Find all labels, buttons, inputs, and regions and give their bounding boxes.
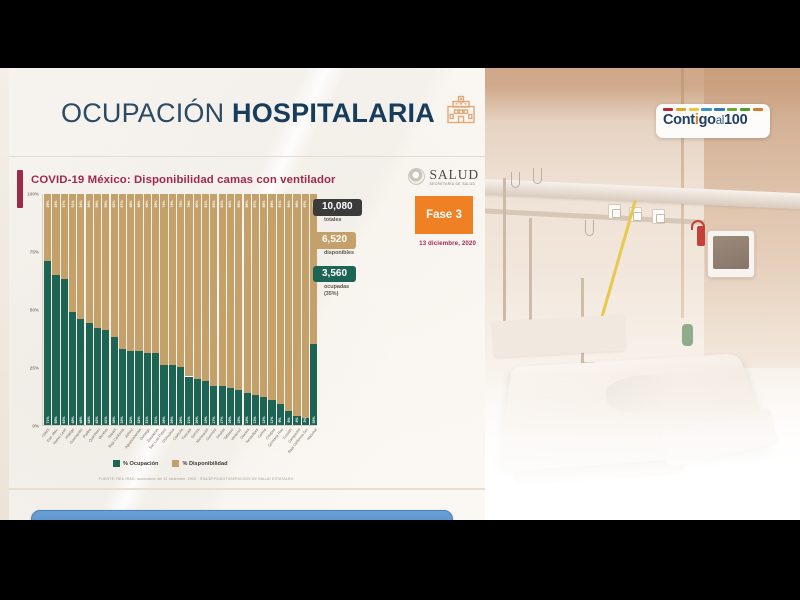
bar-segment-ocupacion: 19%: [202, 381, 209, 425]
bar-value-label: 59%: [104, 200, 108, 207]
bar-segment-disponibilidad: 79%: [185, 194, 192, 376]
iv-hook-icon: [511, 172, 520, 188]
bar-segment-ocupacion: 32%: [127, 351, 134, 425]
logo-dash: [701, 108, 711, 111]
bar-segment-ocupacion: 71%: [44, 261, 51, 425]
bar-value-label: 19%: [204, 416, 208, 423]
bar-column: 67%33%: [119, 194, 126, 425]
bar-value-label: 54%: [79, 200, 83, 207]
bar-column: 83%17%: [219, 194, 226, 425]
bar-segment-ocupacion: 42%: [94, 328, 101, 425]
bar-segment-disponibilidad: 54%: [77, 194, 84, 319]
page-title: OCUPACIÓN HOSPITALARIA: [61, 98, 435, 129]
bar-column: 59%41%: [102, 194, 109, 425]
bar-value-label: 14%: [245, 416, 249, 423]
y-tick-label: 0%: [32, 424, 39, 429]
bar-segment-ocupacion: 35%: [310, 344, 317, 425]
y-axis: 100%75%50%25%0%: [17, 194, 41, 426]
wall-outlet-icon: [652, 209, 665, 224]
chart-title: COVID-19 México: Disponibilidad camas co…: [31, 174, 336, 186]
status-banner: AGS. 65% DE OCUPACION CAMAS CON VENTILAD…: [31, 510, 453, 520]
legend-label: % Ocupación: [123, 461, 158, 467]
logo-word-go: go: [699, 112, 716, 128]
bar-value-label: 42%: [95, 416, 99, 423]
bar-value-label: 38%: [112, 416, 116, 423]
bar-segment-ocupacion: 31%: [144, 353, 151, 425]
bar-segment-disponibilidad: 94%: [285, 194, 292, 411]
bar-segment-disponibilidad: 97%: [302, 194, 309, 418]
bar-column: 86%14%: [244, 194, 251, 425]
bar-column: 89%11%: [268, 194, 275, 425]
bar-value-label: 29%: [46, 200, 50, 207]
bar-value-label: 85%: [237, 200, 241, 207]
banner-zone: AGS. 65% DE OCUPACION CAMAS CON VENTILAD…: [0, 500, 485, 520]
legend-item: % Ocupación: [113, 460, 158, 467]
bar-value-label: 97%: [303, 200, 307, 207]
status-badge: Fase 3: [415, 196, 473, 234]
bar-segment-disponibilidad: 69%: [144, 194, 151, 353]
bar-column: 69%31%: [144, 194, 151, 425]
bar-value-label: 21%: [187, 416, 191, 423]
bar-value-label: 74%: [170, 200, 174, 207]
bar-segment-ocupacion: 49%: [69, 312, 76, 425]
logo-dash: [676, 108, 686, 111]
bar-value-label: 75%: [179, 200, 183, 207]
bar-value-label: 12%: [262, 416, 266, 423]
slide-bottom-rule: [9, 488, 485, 490]
kpi-caption: ocupadas (35%): [313, 284, 405, 299]
bar-segment-ocupacion: 3%: [302, 418, 309, 425]
bar-segment-ocupacion: 17%: [210, 386, 217, 425]
bar-segment-disponibilidad: 67%: [119, 194, 126, 349]
bar-segment-ocupacion: 20%: [194, 379, 201, 425]
kpi-value: 3,560: [313, 266, 356, 283]
salud-subtitle: SECRETARÍA DE SALUD: [429, 183, 479, 186]
hospital-building-icon: [444, 92, 478, 131]
slide-left-strip: [0, 68, 9, 520]
bar-value-label: 9%: [278, 417, 282, 422]
bar-segment-ocupacion: 17%: [219, 386, 226, 425]
y-tick-label: 50%: [30, 308, 39, 313]
bar-value-label: 65%: [54, 416, 58, 423]
bar-value-label: 46%: [79, 416, 83, 423]
chart-card: COVID-19 México: Disponibilidad camas co…: [9, 160, 485, 490]
kpi-caption: disponibles: [313, 250, 405, 257]
bar-segment-ocupacion: 16%: [227, 388, 234, 425]
bar-segment-disponibilidad: 83%: [219, 194, 226, 386]
bar-value-label: 3%: [303, 417, 307, 422]
bar-value-label: 6%: [287, 417, 291, 422]
bar-column: 97%3%: [302, 194, 309, 425]
contigo-al-100-logo: Contigoal100: [656, 104, 770, 138]
bar-column: 29%71%: [44, 194, 51, 425]
bar-segment-disponibilidad: 74%: [169, 194, 176, 365]
bar-value-label: 35%: [312, 416, 316, 423]
legend-label: % Disponibilidad: [182, 461, 227, 467]
letterbox-bottom: [0, 520, 800, 600]
bar-value-label: 41%: [104, 416, 108, 423]
kpi-totales: 10,080totales: [313, 196, 405, 224]
bar-segment-disponibilidad: 84%: [227, 194, 234, 388]
bar-value-label: 71%: [46, 416, 50, 423]
bar-segment-disponibilidad: 81%: [202, 194, 209, 381]
plot-area: 29%71%35%65%37%63%51%49%54%46%56%44%58%4…: [42, 194, 317, 426]
bar-column: 58%42%: [94, 194, 101, 425]
bar-column: 74%26%: [160, 194, 167, 425]
bar-value-label: 62%: [112, 200, 116, 207]
bar-segment-disponibilidad: 80%: [194, 194, 201, 379]
chart-legend: % Ocupación% Disponibilidad: [113, 460, 228, 467]
bar-segment-ocupacion: 63%: [61, 279, 68, 425]
bar-segment-ocupacion: 32%: [135, 351, 142, 425]
iv-hook-icon: [585, 220, 594, 236]
kpi-disponibles: 6,520disponibles: [313, 229, 405, 257]
bar-value-label: 35%: [54, 200, 58, 207]
bar-column: 68%32%: [127, 194, 134, 425]
red-valve-icon: [697, 226, 705, 246]
iv-pole: [529, 218, 532, 328]
bar-segment-disponibilidad: 69%: [152, 194, 159, 353]
bar-value-label: 68%: [129, 200, 133, 207]
bar-value-label: 87%: [253, 200, 257, 207]
bar-segment-ocupacion: 38%: [111, 337, 118, 425]
bar-segment-ocupacion: 11%: [268, 400, 275, 425]
bar-segment-disponibilidad: 58%: [94, 194, 101, 328]
bar-value-label: 74%: [162, 200, 166, 207]
bar-column: 85%15%: [235, 194, 242, 425]
logo-dash: [727, 108, 737, 111]
green-bag-icon: [682, 324, 693, 346]
bar-segment-disponibilidad: 68%: [135, 194, 142, 351]
bar-segment-ocupacion: 25%: [177, 367, 184, 425]
logo-wordmark: Contigoal100: [663, 113, 763, 128]
bar-segment-ocupacion: 65%: [52, 275, 59, 425]
monitor-screen: [713, 236, 749, 269]
bar-value-label: 68%: [137, 200, 141, 207]
bar-segment-disponibilidad: 96%: [293, 194, 300, 416]
x-axis-labels: CDMXEdo. Méx.Nuevo LeónHidalgoGuanajuato…: [43, 427, 317, 455]
logo-dash: [740, 108, 750, 111]
kpi-ocupadas: 3,560ocupadas (35%): [313, 263, 405, 299]
kpi-list: 10,080totales6,520disponibles3,560ocupad…: [313, 196, 405, 303]
title-light: OCUPACIÓN: [61, 98, 224, 128]
bar-value-label: 26%: [162, 416, 166, 423]
bar-segment-disponibilidad: 89%: [268, 194, 275, 400]
bar-value-label: 84%: [228, 200, 232, 207]
y-tick-label: 100%: [27, 192, 39, 197]
bar-value-label: 86%: [245, 200, 249, 207]
bar-column: 84%16%: [227, 194, 234, 425]
title-bold: HOSPITALARIA: [232, 98, 435, 128]
bar-value-label: 69%: [154, 200, 158, 207]
broadcast-screen: OCUPACIÓN HOSPITALARIA: [0, 0, 800, 600]
legend-swatch: [113, 460, 120, 467]
logo-word-100: 100: [724, 112, 747, 128]
bar-value-label: 58%: [95, 200, 99, 207]
bar-column: 56%44%: [86, 194, 93, 425]
kpi-value: 10,080: [313, 199, 362, 216]
bar-series-container: 29%71%35%65%37%63%51%49%54%46%56%44%58%4…: [44, 194, 317, 425]
bar-column: 83%17%: [210, 194, 217, 425]
iv-hook-icon: [533, 168, 542, 184]
bar-segment-disponibilidad: 62%: [111, 194, 118, 337]
bar-segment-ocupacion: 33%: [119, 349, 126, 425]
bar-value-label: 51%: [71, 200, 75, 207]
bar-column: 68%32%: [135, 194, 142, 425]
salud-logo: SALUD SECRETARÍA DE SALUD: [408, 168, 479, 186]
bar-value-label: 37%: [62, 200, 66, 207]
bar-value-label: 88%: [262, 200, 266, 207]
bar-segment-ocupacion: 12%: [260, 397, 267, 425]
logo-dash: [753, 108, 763, 111]
bar-value-label: 49%: [71, 416, 75, 423]
bar-column: 87%13%: [252, 194, 259, 425]
bar-column: 79%21%: [185, 194, 192, 425]
bar-value-label: 31%: [145, 416, 149, 423]
bar-segment-ocupacion: 4%: [293, 416, 300, 425]
bar-segment-disponibilidad: 88%: [260, 194, 267, 397]
bar-column: 35%65%: [52, 194, 59, 425]
bar-value-label: 44%: [87, 416, 91, 423]
bar-value-label: 81%: [204, 200, 208, 207]
bar-column: 69%31%: [152, 194, 159, 425]
bar-column: 81%19%: [202, 194, 209, 425]
legend-item: % Disponibilidad: [172, 460, 227, 467]
bar-column: 80%20%: [194, 194, 201, 425]
bar-value-label: 80%: [195, 200, 199, 207]
bar-segment-ocupacion: 14%: [244, 393, 251, 425]
bar-value-label: 32%: [129, 416, 133, 423]
bar-segment-ocupacion: 13%: [252, 395, 259, 425]
bar-segment-ocupacion: 6%: [285, 411, 292, 425]
bar-column: 62%38%: [111, 194, 118, 425]
bar-value-label: 31%: [154, 416, 158, 423]
bar-segment-disponibilidad: 75%: [177, 194, 184, 367]
bar-column: 96%4%: [293, 194, 300, 425]
bar-value-label: 26%: [170, 416, 174, 423]
salud-name: SALUD: [429, 168, 479, 182]
bar-segment-disponibilidad: 51%: [69, 194, 76, 312]
bar-segment-ocupacion: 21%: [185, 377, 192, 426]
bar-value-label: 67%: [120, 200, 124, 207]
mexico-eagle-seal-icon: [408, 168, 425, 185]
bar-segment-ocupacion: 26%: [160, 365, 167, 425]
slide-date: 13 diciembre, 2020: [419, 240, 476, 247]
bar-segment-disponibilidad: 56%: [86, 194, 93, 323]
bar-value-label: 94%: [287, 200, 291, 207]
bar-segment-disponibilidad: 85%: [235, 194, 242, 390]
bar-segment-disponibilidad: 37%: [61, 194, 68, 279]
bar-value-label: 32%: [137, 416, 141, 423]
slide-header: OCUPACIÓN HOSPITALARIA: [9, 82, 485, 144]
bar-value-label: 25%: [179, 416, 183, 423]
bar-column: 94%6%: [285, 194, 292, 425]
patient-monitor: [707, 230, 755, 278]
bar-value-label: 56%: [87, 200, 91, 207]
bar-value-label: 91%: [278, 200, 282, 207]
source-note: FUENTE: RED IRAG, acumulado del 12 dicie…: [99, 477, 399, 481]
chart-plot: 100%75%50%25%0% 29%71%35%65%37%63%51%49%…: [17, 194, 317, 456]
bar-segment-ocupacion: 46%: [77, 319, 84, 425]
bar-column: 75%25%: [177, 194, 184, 425]
bar-column: 37%63%: [61, 194, 68, 425]
bar-value-label: 16%: [228, 416, 232, 423]
letterbox-top: [0, 0, 800, 68]
bar-segment-ocupacion: 44%: [86, 323, 93, 425]
hospital-room-photo: Contigoal100: [485, 68, 800, 520]
bar-segment-ocupacion: 41%: [102, 330, 109, 425]
bar-segment-ocupacion: 9%: [277, 404, 284, 425]
bar-segment-disponibilidad: 29%: [44, 194, 51, 261]
bar-segment-disponibilidad: 86%: [244, 194, 251, 393]
bar-value-label: 4%: [295, 417, 299, 422]
bar-segment-disponibilidad: 68%: [127, 194, 134, 351]
kpi-caption: totales: [313, 217, 405, 224]
iv-pole: [503, 178, 506, 328]
header-divider: [9, 156, 485, 157]
bar-value-label: 17%: [220, 416, 224, 423]
bar-value-label: 63%: [62, 416, 66, 423]
bar-column: 91%9%: [277, 194, 284, 425]
bar-value-label: 96%: [295, 200, 299, 207]
bar-value-label: 79%: [187, 200, 191, 207]
bar-segment-ocupacion: 26%: [169, 365, 176, 425]
photo-fade-overlay: [485, 370, 800, 520]
bar-segment-disponibilidad: 59%: [102, 194, 109, 330]
bar-segment-ocupacion: 31%: [152, 353, 159, 425]
bar-segment-ocupacion: 15%: [235, 390, 242, 425]
bar-value-label: 15%: [237, 416, 241, 423]
logo-dash: [714, 108, 724, 111]
bar-segment-disponibilidad: 74%: [160, 194, 167, 365]
presentation-slide: OCUPACIÓN HOSPITALARIA: [0, 68, 485, 520]
bar-segment-disponibilidad: 35%: [52, 194, 59, 275]
logo-word-al: al: [716, 115, 724, 127]
bar-value-label: 83%: [212, 200, 216, 207]
y-tick-label: 25%: [30, 366, 39, 371]
bar-column: 54%46%: [77, 194, 84, 425]
y-tick-label: 75%: [30, 250, 39, 255]
bar-value-label: 13%: [253, 416, 257, 423]
bar-column: 88%12%: [260, 194, 267, 425]
logo-dashes: [663, 108, 763, 111]
bar-value-label: 89%: [270, 200, 274, 207]
bar-value-label: 17%: [212, 416, 216, 423]
bar-value-label: 83%: [220, 200, 224, 207]
legend-swatch: [172, 460, 179, 467]
bar-segment-disponibilidad: 87%: [252, 194, 259, 395]
bar-value-label: 33%: [120, 416, 124, 423]
wall-outlet-icon: [608, 204, 621, 219]
bar-column: 51%49%: [69, 194, 76, 425]
bar-segment-disponibilidad: 91%: [277, 194, 284, 404]
bar-value-label: 11%: [270, 417, 274, 424]
kpi-value: 6,520: [313, 232, 356, 249]
bar-value-label: 20%: [195, 416, 199, 423]
bar-column: 74%26%: [169, 194, 176, 425]
bar-value-label: 69%: [145, 200, 149, 207]
logo-dash: [663, 108, 673, 111]
bar-segment-disponibilidad: 83%: [210, 194, 217, 386]
logo-dash: [689, 108, 699, 111]
phase-badge-label: Fase 3: [426, 209, 462, 221]
bed-headboard: [492, 315, 626, 358]
logo-word-cont: Cont: [663, 112, 695, 128]
